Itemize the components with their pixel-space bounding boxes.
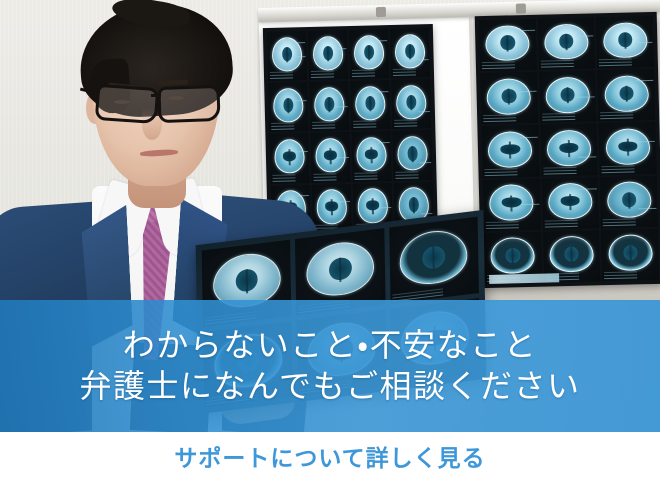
- ct-slice: [601, 229, 659, 282]
- ct-slice: [597, 69, 655, 122]
- ct-slice: [392, 130, 432, 180]
- film-clip: [376, 7, 386, 17]
- ct-slice: [481, 125, 539, 178]
- headline-line-2: 弁護士になんでもご相談ください: [80, 366, 581, 407]
- ct-slice: [389, 217, 479, 304]
- ct-slice: [479, 19, 537, 72]
- ct-slice: [350, 80, 390, 130]
- eyeglass-lens-left: [95, 84, 159, 124]
- ct-slice: [349, 29, 389, 79]
- ct-slice: [600, 175, 658, 228]
- ct-slice: [310, 132, 350, 182]
- ct-slice: [390, 28, 430, 78]
- ct-slice: [351, 131, 391, 181]
- eyeglasses: [96, 86, 228, 120]
- ct-slice: [537, 17, 595, 70]
- ct-slice: [391, 79, 431, 129]
- cta-area: サポートについて詳しく見る: [0, 432, 660, 480]
- ct-slice: [599, 122, 657, 175]
- film-clip: [516, 3, 526, 13]
- promo-banner-card: わからないこと・不安なこと 弁護士になんでもご相談ください サポートについて詳し…: [0, 0, 660, 480]
- film-id-label: [489, 273, 559, 284]
- eyeglass-lens-right: [157, 85, 220, 123]
- ct-slice-grid: [479, 16, 659, 284]
- headline-banner: わからないこと・不安なこと 弁護士になんでもご相談ください: [0, 300, 660, 432]
- ct-slice: [483, 178, 541, 231]
- ct-slice: [539, 71, 597, 124]
- eyeglass-bridge: [151, 94, 161, 97]
- ct-slice: [480, 72, 538, 125]
- headline-line-1: わからないこと・不安なこと: [123, 325, 537, 366]
- ct-film-sheet-right: [475, 12, 660, 288]
- ct-slice: [596, 16, 654, 69]
- ct-slice: [540, 124, 598, 177]
- ct-slice: [541, 177, 599, 230]
- ct-slice: [309, 81, 349, 131]
- ct-slice: [308, 30, 348, 80]
- hero-photo: わからないこと・不安なこと 弁護士になんでもご相談ください: [0, 0, 660, 432]
- support-details-link[interactable]: サポートについて詳しく見る: [174, 439, 485, 473]
